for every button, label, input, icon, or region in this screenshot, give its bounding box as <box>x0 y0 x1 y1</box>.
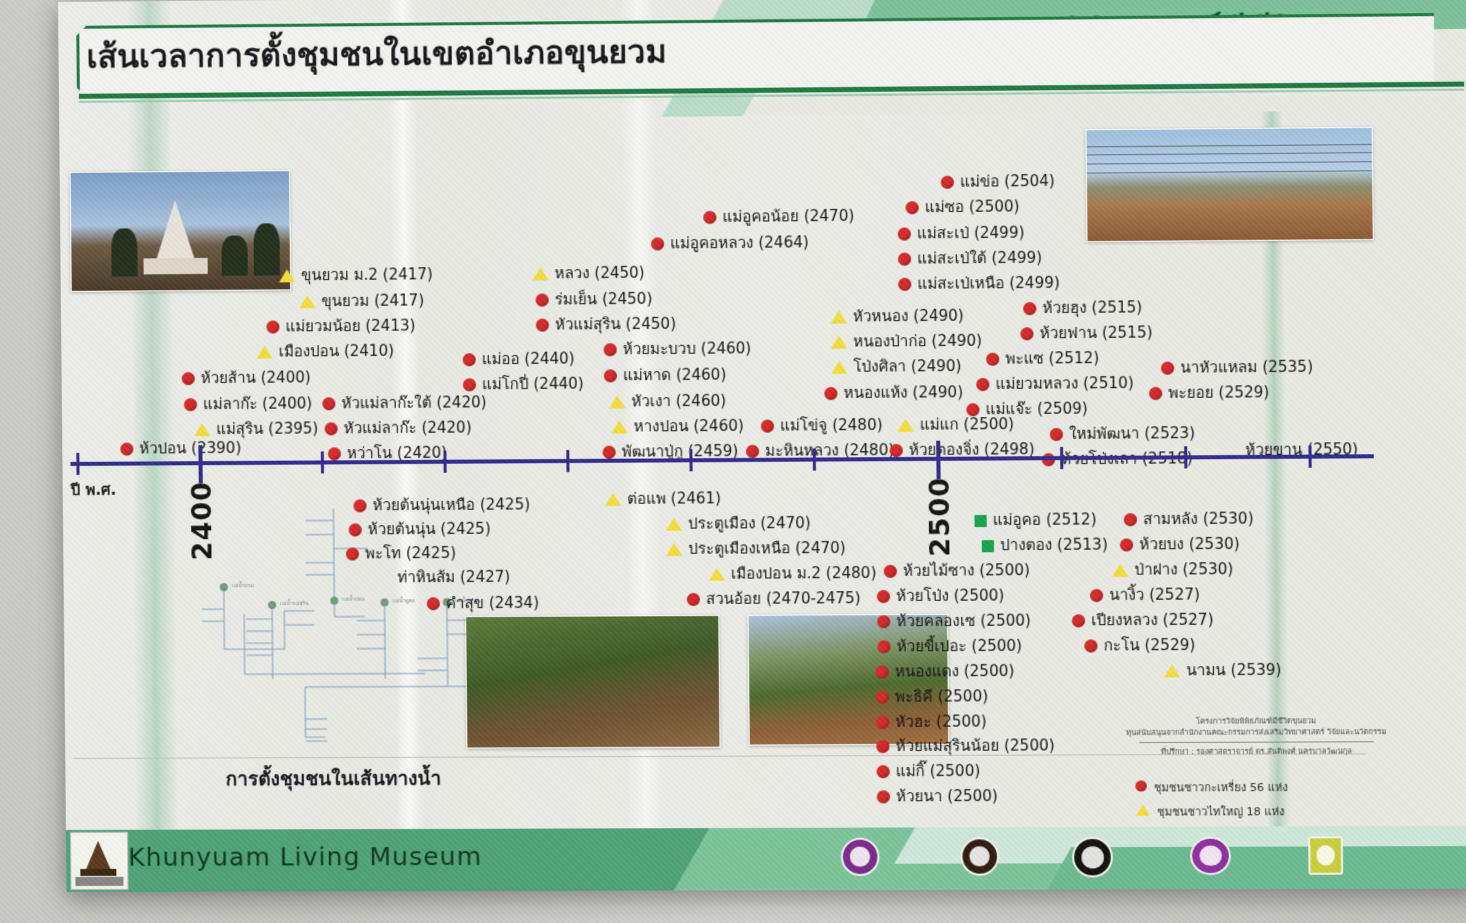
svg-text:แม่น้ำแม่สุริน: แม่น้ำแม่สุริน <box>280 598 309 607</box>
timeline-canvas: ปี พ.ศ. 2400 2500 <box>59 98 1466 832</box>
karen-dot-icon <box>603 446 616 459</box>
karen-dot-icon <box>651 237 664 250</box>
museum-logo <box>70 832 129 890</box>
photo-village <box>1085 127 1373 242</box>
timeline-entry-label: สวนอ้อย (2470-2475) <box>706 589 861 608</box>
shan-triangle-icon <box>611 420 627 433</box>
shan-triangle-icon <box>666 518 682 531</box>
karen-dot-icon <box>346 547 359 560</box>
timeline-entry: หัวฮะ (2500) <box>876 714 987 730</box>
timeline-entry: แม่ลาก๊ะ (2400) <box>184 396 312 412</box>
timeline-entry-label: ห้วยคลองเซ (2500) <box>896 611 1031 630</box>
karen-dot-icon <box>1149 387 1162 400</box>
karen-dot-icon <box>1023 302 1036 315</box>
timeline-entry-label: แม่สะเป่เหนือ (2499) <box>917 274 1060 293</box>
timeline-entry: พะยอย (2529) <box>1149 385 1269 401</box>
river-diagram-caption: การตั้งชุมชนในเส้นทางน้ำ <box>226 764 442 795</box>
shan-triangle-icon <box>194 423 210 436</box>
timeline-entry: แม่ยวมหลวง (2510) <box>976 376 1134 392</box>
timeline-entry-label: หัวแม่ลาก๊ะใต้ (2420) <box>341 393 486 412</box>
timeline-entry-label: ประตูเมืองเหนือ (2470) <box>688 539 846 558</box>
timeline-entry: แม่กิ๊ (2500) <box>876 764 980 779</box>
axis-year-2500: 2500 <box>924 477 956 557</box>
timeline-entry: เมืองปอน (2410) <box>257 344 394 360</box>
timeline-entry-label: นาหัวแหลม (2535) <box>1180 358 1313 377</box>
timeline-entry-label: คำสุข (2434) <box>446 594 539 613</box>
credits-line-3: ที่ปรึกษา : รองศาสตราจารย์ ดร.สันติพงศ์ … <box>1104 745 1410 757</box>
timeline-entry: ห้วยขี้เปอะ (2500) <box>877 639 1022 655</box>
karen-dot-icon <box>876 691 889 704</box>
timeline-entry: ห้วยโป่ง (2500) <box>877 588 1005 604</box>
logo-yellow-emblem-icon <box>1308 836 1343 874</box>
timeline-entry-label: แม่ยวมน้อย (2413) <box>285 316 415 335</box>
timeline-entry-label: ห้วปอน (2390) <box>139 439 241 458</box>
timeline-entry-label: หัวแม่ลาก๊ะ (2420) <box>344 418 472 437</box>
karen-dot-icon <box>986 353 999 366</box>
timeline-entry-label: แม่ลาก๊ะ (2400) <box>203 394 312 413</box>
karen-dot-icon <box>824 387 837 400</box>
timeline-entry-label: นามน (2539) <box>1186 661 1281 680</box>
legend: ชุมชนชาวกะเหรี่ยง 56 แห่งชุมชนชาวไทใหญ่ … <box>1134 777 1419 778</box>
svg-text:แม่น้ำยวม: แม่น้ำยวม <box>232 580 254 589</box>
karen-dot-icon <box>876 765 889 778</box>
timeline-entry-label: แม่ข่อ (2504) <box>960 172 1055 191</box>
karen-dot-icon <box>604 369 617 382</box>
karen-dot-icon <box>1135 780 1146 791</box>
karen-dot-icon <box>976 378 989 391</box>
timeline-entry: นาหัวแหลม (2535) <box>1161 360 1313 376</box>
timeline-entry: ใหม่พัฒนา (2523) <box>1050 426 1195 442</box>
timeline-entry: สวนอ้อย (2470-2475) <box>687 591 861 607</box>
timeline-entry-label: แม่สุริน (2395) <box>216 419 318 438</box>
karen-dot-icon <box>1084 639 1097 652</box>
photo-of-poster: พิพิธภัณฑ์มีชีวิตขุนยวม เส้นเวลาการตั้งช… <box>0 0 1466 923</box>
timeline-entry: แม่โกปี่ (2440) <box>463 377 584 393</box>
timeline-entry: นางิ้ว (2527) <box>1090 587 1200 603</box>
karen-dot-icon <box>536 293 549 306</box>
karen-dot-icon <box>877 590 890 603</box>
timeline-entry: แม่สะเป่ (2499) <box>898 226 1025 242</box>
timeline-entry-label: ขุนยวม (2417) <box>321 291 424 310</box>
timeline-entry: แม่ออ (2440) <box>463 352 575 368</box>
timeline-entry: หางปอน (2460) <box>611 419 743 435</box>
timeline-entry: ห้วยคลองเซ (2500) <box>877 613 1031 629</box>
timeline-entry-label: ห้วยไม้ซาง (2500) <box>903 561 1030 580</box>
timeline-entry-label: หัวแม่สุริน (2450) <box>555 315 676 334</box>
timeline-entry-label: ห้วยฟาน (2515) <box>1040 323 1153 342</box>
shan-triangle-icon <box>831 310 847 323</box>
timeline-entry-label: หนองแห้ง (2490) <box>843 383 963 402</box>
timeline-entry-label: ห้วยโป่ง (2500) <box>896 586 1004 605</box>
timeline-entry-label: หัวเงา (2460) <box>631 392 726 411</box>
timeline-entry-label: ห้วยมะบวบ (2460) <box>623 339 752 358</box>
shan-triangle-icon <box>897 419 913 432</box>
logo-brown-emblem-icon <box>960 837 999 875</box>
timeline-entry: คำสุข (2434) <box>427 596 539 612</box>
timeline-entry-label: ห้วยนา (2500) <box>896 787 998 805</box>
timeline-entry: โป่งศิลา (2490) <box>831 359 962 375</box>
timeline-entry-label: หนองแดง (2500) <box>895 662 1015 681</box>
timeline-entry-label: ห้วยต้นนุ่น (2425) <box>368 520 491 539</box>
karen-dot-icon <box>184 398 197 411</box>
karen-dot-icon <box>877 640 890 653</box>
timeline-entry-label: สามหลัง (2530) <box>1143 509 1254 528</box>
timeline-entry: แม่โข่จู (2480) <box>761 418 883 434</box>
karen-dot-icon <box>884 565 897 578</box>
karen-dot-icon <box>877 615 890 628</box>
shan-triangle-icon <box>605 493 621 506</box>
shan-triangle-icon <box>1164 664 1180 677</box>
karen-dot-icon <box>1161 362 1174 375</box>
legend-item: ชุมชนชาวไทใหญ่ 18 แห่ง <box>1135 802 1285 821</box>
timeline-entry: หนองป่าก่อ (2490) <box>831 334 982 350</box>
timeline-entry-label: แม่กิ๊ (2500) <box>896 762 981 780</box>
timeline-entry-label: โป่งศิลา (2490) <box>853 357 961 376</box>
timeline-entry-label: เปียงหลวง (2527) <box>1091 611 1213 630</box>
timeline-entry-label: หางปอน (2460) <box>634 417 744 436</box>
timeline-entry: ปางตอง (2513) <box>982 537 1108 553</box>
timeline-entry-label: แม่โข่จู (2480) <box>780 416 883 435</box>
credits-line-2: ทุนสนับสนุนจากสำนักงานคณะกรรมการส่งเสริม… <box>1103 726 1409 738</box>
svg-text:แม่น้ำอูคอ: แม่น้ำอูคอ <box>393 595 415 604</box>
timeline-entry: หนองแดง (2500) <box>876 664 1015 680</box>
shan-triangle-icon <box>257 346 273 359</box>
karen-dot-icon <box>898 253 911 266</box>
timeline-entry-label: หลวง (2450) <box>554 264 644 283</box>
karen-dot-icon <box>1072 614 1085 627</box>
logo-purple-emblem-icon <box>841 838 880 876</box>
karen-dot-icon <box>120 443 133 456</box>
timeline-entry: แม่อูคอน้อย (2470) <box>703 209 854 225</box>
timeline-entry: ป่าฝาง (2530) <box>1112 562 1233 578</box>
karen-dot-icon <box>898 278 911 291</box>
timeline-entry: พะโท (2425) <box>346 546 456 562</box>
timeline-entry-label: ห้วยส้าน (2400) <box>201 368 311 387</box>
timeline-entry-label: แม่แจ๊ะ (2509) <box>985 399 1087 418</box>
shan-triangle-icon <box>831 361 847 374</box>
timeline-entry-label: ป่าฝาง (2530) <box>1134 560 1233 579</box>
shan-triangle-icon <box>1112 564 1128 577</box>
axis-caption: ปี พ.ศ. <box>71 478 117 502</box>
timeline-entry: หัวแม่ลาก๊ะใต้ (2420) <box>322 395 486 411</box>
timeline-entry-label: ขุนยวม ม.2 (2417) <box>301 265 433 284</box>
credits-block: โครงการวิจัยพิพิธภัณฑ์มีชีวิตขุนยวม ทุนส… <box>1103 715 1409 757</box>
timeline-entry: หัวหนอง (2490) <box>831 309 964 325</box>
karen-dot-icon <box>353 499 366 512</box>
timeline-entry-label: พะโท (2425) <box>365 544 456 563</box>
karen-dot-icon <box>427 597 440 610</box>
timeline-entry-label: ท่าหินส้ม (2427) <box>397 568 510 587</box>
page-title: เส้นเวลาการตั้งชุมชนในเขตอำเภอขุนยวม <box>86 26 667 82</box>
karen-dot-icon <box>941 176 954 189</box>
timeline-entry-label: ปางตอง (2513) <box>1000 535 1108 554</box>
timeline-entry-label: ห้วยขี้เปอะ (2500) <box>897 637 1023 656</box>
timeline-entry-label: พะยอย (2529) <box>1168 383 1269 402</box>
karen-dot-icon <box>325 422 338 435</box>
timeline-entry: ห้วยมะบวบ (2460) <box>604 341 752 357</box>
timeline-entry: แม่ซอ (2500) <box>905 199 1019 215</box>
karen-dot-icon <box>1120 538 1133 551</box>
karen-dot-icon <box>322 397 335 410</box>
karen-dot-icon <box>1020 327 1033 340</box>
timeline-entry: นามน (2539) <box>1164 663 1282 679</box>
karen-dot-icon <box>1050 428 1063 441</box>
karen-dot-icon <box>876 716 889 729</box>
karen-dot-icon <box>266 320 279 333</box>
timeline-entry: หนองแห้ง (2490) <box>824 385 963 401</box>
karen-dot-icon <box>463 378 476 391</box>
timeline-entry: ประตูเมืองเหนือ (2470) <box>666 541 846 557</box>
karen-dot-icon <box>1090 589 1103 602</box>
timeline-entry: ห้วยส้าน (2400) <box>182 370 311 386</box>
timeline-entry-label: พะธิคี (2500) <box>895 687 988 706</box>
timeline-entry-label: นางิ้ว (2527) <box>1109 585 1200 604</box>
karen-dot-icon <box>349 523 362 536</box>
timeline-entry: พะแซ (2512) <box>986 351 1099 367</box>
timeline-entry-label: หนองป่าก่อ (2490) <box>853 332 982 351</box>
timeline-entry: ห้วยนา (2500) <box>877 789 998 804</box>
board-header: พิพิธภัณฑ์มีชีวิตขุนยวม เส้นเวลาการตั้งช… <box>58 0 1466 122</box>
sponsor-logo-row <box>831 834 1401 882</box>
timeline-entry-label: แม่ออ (2440) <box>482 350 575 369</box>
timeline-entry: แม่สะเป่ใต้ (2499) <box>898 251 1042 267</box>
timeline-entry-label: ห้วยฮุง (2515) <box>1042 298 1142 317</box>
timeline-entry: แม่ข่อ (2504) <box>941 174 1055 190</box>
karen-dot-icon <box>604 343 617 356</box>
shan-triangle-icon <box>279 269 295 282</box>
shan-triangle-icon <box>666 543 682 556</box>
timeline-entry: กะโน (2529) <box>1084 638 1195 654</box>
timeline-entry-label: ต่อแพ (2461) <box>627 489 721 508</box>
legend-item-label: ชุมชนชาวไทใหญ่ 18 แห่ง <box>1157 805 1284 819</box>
karen-dot-icon <box>876 740 889 753</box>
timeline-entry-label: หัวหนอง (2490) <box>853 307 964 326</box>
logo-violet-emblem-icon <box>1190 837 1231 875</box>
timeline-entry-label: ประตูเมือง (2470) <box>688 514 811 533</box>
timeline-entry: ห้วปอน (2390) <box>120 441 241 457</box>
karen-dot-icon <box>877 790 890 803</box>
timeline-entry: ห้วยต้นนุ่นเหนือ (2425) <box>353 497 530 513</box>
svg-text:แม่น้ำปอน: แม่น้ำปอน <box>342 594 365 603</box>
timeline-entry-label: แม่อูคอ (2512) <box>993 510 1097 529</box>
timeline-entry-label: กะโน (2529) <box>1104 636 1196 655</box>
timeline-entry: เปียงหลวง (2527) <box>1072 613 1214 629</box>
timeline-entry: ห้วยแม่สุรินน้อย (2500) <box>876 738 1054 754</box>
timeline-entry-label: แม่ซอ (2500) <box>925 197 1020 216</box>
timeline-entry: หัวแม่สุริน (2450) <box>536 317 676 333</box>
timeline-entry-label: ห้วยบง (2530) <box>1139 535 1240 554</box>
shan-triangle-icon <box>532 267 548 280</box>
karen-dot-icon <box>876 665 889 678</box>
timeline-entry-label: พะแซ (2512) <box>1005 349 1099 368</box>
timeline-entry-label: ห้วยต้นนุ่นเหนือ (2425) <box>372 495 530 514</box>
timeline-entry: หัวแม่ลาก๊ะ (2420) <box>325 420 472 436</box>
timeline-entry: ท่าหินส้ม (2427) <box>397 570 510 586</box>
karen-dot-icon <box>898 227 911 240</box>
shan-triangle-icon <box>831 336 847 349</box>
karen-dot-icon <box>746 445 759 458</box>
karen-dot-icon <box>1124 513 1137 526</box>
brand-name: Khunyuam Living Museum <box>128 842 482 872</box>
timeline-entry: ขุนยวม (2417) <box>299 293 424 309</box>
timeline-entry-label: แม่หาด (2460) <box>623 366 726 385</box>
photo-forest-road <box>465 615 720 749</box>
shan-triangle-icon <box>609 395 625 408</box>
timeline-entry-label: เมืองปอน ม.2 (2480) <box>731 564 877 583</box>
timeline-entry: แม่แก (2500) <box>897 417 1014 433</box>
karen-dot-icon <box>905 201 918 214</box>
timeline-entry: เมืองปอน ม.2 (2480) <box>709 566 877 582</box>
timeline-entry: สามหลัง (2530) <box>1124 511 1254 527</box>
karen-dot-icon <box>761 420 774 433</box>
timeline-entry-label: แม่สะเป่ (2499) <box>917 224 1025 243</box>
timeline-entry-label: ห้วยแม่สุรินน้อย (2500) <box>895 736 1054 755</box>
shan-triangle-icon <box>299 295 315 308</box>
timeline-entry: แม่อูคอ (2512) <box>974 512 1096 528</box>
timeline-entry-label: ร่มเย็น (2450) <box>555 290 653 309</box>
legend-item-label: ชุมชนชาวกะเหรี่ยง 56 แห่ง <box>1154 781 1288 795</box>
karen-dot-icon <box>463 353 476 366</box>
karen-dot-icon <box>890 444 903 457</box>
timeline-entry: แม่อูคอหลวง (2464) <box>651 235 809 251</box>
karen-dot-icon <box>687 593 700 606</box>
timeline-entry: แม่หาด (2460) <box>604 368 727 384</box>
karen-dot-icon <box>536 319 549 332</box>
timeline-entry: แม่ยวมน้อย (2413) <box>266 318 415 334</box>
timeline-entry: ห้วยต้นนุ่น (2425) <box>349 522 491 538</box>
karen-dot-icon <box>966 403 979 416</box>
logo-black-emblem-icon <box>1072 837 1113 877</box>
timeline-entry: หลวง (2450) <box>532 266 645 282</box>
karen-dot-icon <box>182 372 195 385</box>
photo-stupa <box>70 170 292 292</box>
timeline-entry-label: แม่อูคอหลวง (2464) <box>670 233 809 252</box>
legend-item: ชุมชนชาวกะเหรี่ยง 56 แห่ง <box>1134 778 1287 797</box>
timeline-entry: ขุนยวม ม.2 (2417) <box>279 267 433 283</box>
timeline-entry: แม่สุริน (2395) <box>194 421 318 437</box>
timeline-entry: ประตูเมือง (2470) <box>666 516 811 532</box>
timeline-entry-label: เมืองปอน (2410) <box>279 342 394 361</box>
shan-triangle-icon <box>709 568 725 581</box>
timeline-entry-label: หัวฮะ (2500) <box>895 712 987 730</box>
timeline-entry-label: ใหม่พัฒนา (2523) <box>1069 424 1195 443</box>
hmong-square-icon <box>982 540 994 552</box>
timeline-entry: ห้วยฟาน (2515) <box>1020 325 1152 341</box>
timeline-entry: หัวเงา (2460) <box>609 394 726 410</box>
timeline-entry: ห้วยฮุง (2515) <box>1023 300 1142 316</box>
timeline-entry: ร่มเย็น (2450) <box>536 292 653 308</box>
shan-triangle-icon <box>1136 805 1150 816</box>
museum-info-board: พิพิธภัณฑ์มีชีวิตขุนยวม เส้นเวลาการตั้งช… <box>58 0 1466 892</box>
timeline-entry: แม่แจ๊ะ (2509) <box>966 401 1088 417</box>
timeline-entry: แม่สะเป่เหนือ (2499) <box>898 276 1060 292</box>
timeline-entry: ห้วยไม้ซาง (2500) <box>884 563 1030 579</box>
timeline-entry: พะธิคี (2500) <box>876 689 988 705</box>
board-footer: Khunyuam Living Museum <box>66 826 1466 892</box>
timeline-entry-label: แม่อูคอน้อย (2470) <box>722 207 854 226</box>
karen-dot-icon <box>703 211 716 224</box>
timeline-entry: ห้วยบง (2530) <box>1120 537 1240 553</box>
timeline-entry-label: แม่ยวมหลวง (2510) <box>995 374 1133 393</box>
hmong-square-icon <box>974 515 986 527</box>
timeline-entry-label: แม่สะเป่ใต้ (2499) <box>917 249 1042 268</box>
timeline-entry: ต่อแพ (2461) <box>605 491 721 507</box>
timeline-entry-label: แม่โกปี่ (2440) <box>482 375 584 394</box>
karen-dot-icon <box>328 447 341 460</box>
